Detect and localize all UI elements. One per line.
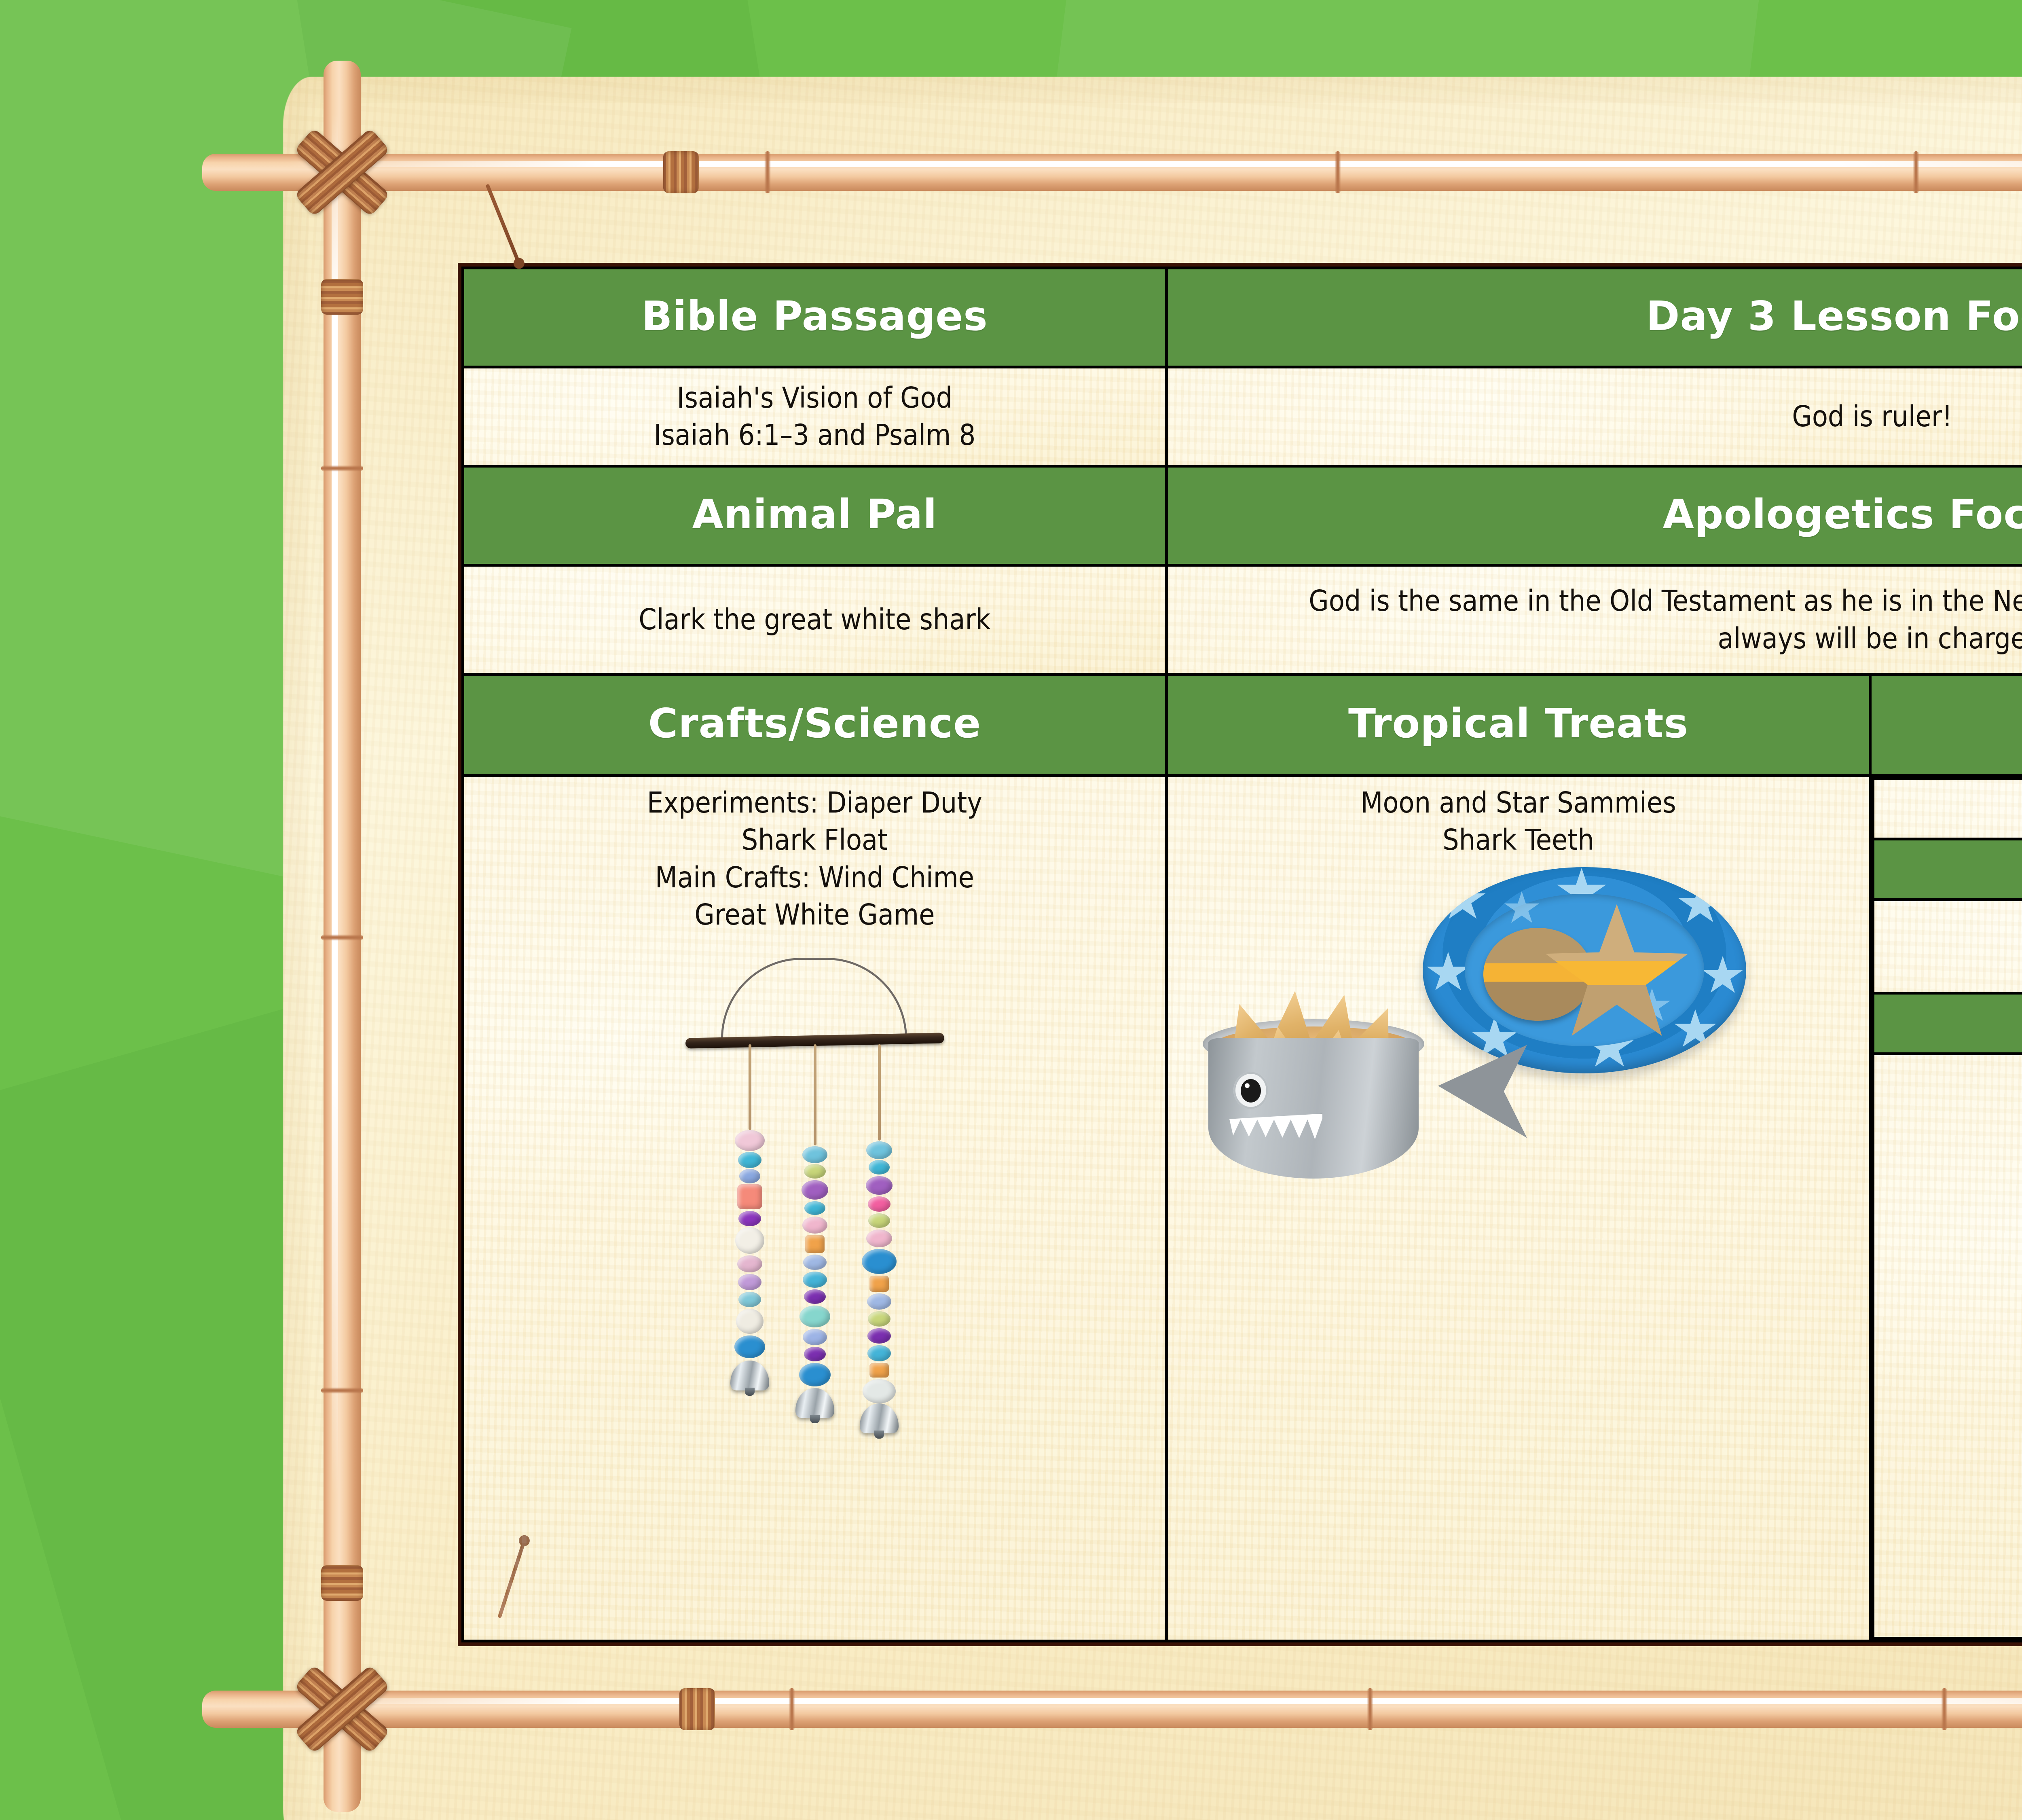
header-apologetics-focus: Apologetics Focus [1167,466,2022,565]
rope-band [321,1565,363,1601]
bamboo-pole-top [202,154,2022,191]
overview-table: Bible Passages Day 3 Lesson Focus Isaiah… [461,267,2022,1642]
tropical-treats-lines: Moon and Star Sammies Shark Teeth [1360,784,1676,859]
cell-treasured-verses: Isaiah 6:3 [1873,779,2022,839]
header-treasured-verses: Treasured Verses [1870,675,2022,776]
cell-tropical-treats: Moon and Star Sammies Shark Teeth [1167,776,1870,1641]
cell-bible-passages: Isaiah's Vision of God Isaiah 6:1–3 and … [463,367,1167,466]
chime-bell [795,1388,834,1418]
cell-cool-contests: Dress-Up Day [1873,1054,2022,1638]
crafts-science-lines: Experiments: Diaper Duty Shark Float Mai… [647,784,982,933]
cell-crafts-science: Experiments: Diaper Duty Shark Float Mai… [463,776,1167,1641]
chime-bell [860,1403,899,1433]
header-cool-contests: Cool Contests [1873,993,2022,1054]
tropical-treats-illustration [1180,859,1857,1632]
rope-band [321,279,363,315]
cell-day3-lesson-focus-text: God is ruler! [1792,400,1952,433]
table-row-section-headers: Crafts/Science Tropical Treats Treasured… [463,675,2022,776]
shark-tail-fin [1438,1045,1527,1138]
header-tropical-treats: Tropical Treats [1167,675,1870,776]
cell-animal-pal: Clark the great white shark [463,565,1167,675]
cell-apologetics-focus-body: God is the same in the Old Testament as … [1290,582,2022,657]
chime-bell [730,1361,769,1390]
cell-day3-lesson-focus: God is ruler! [1167,367,2022,466]
bamboo-pole-left [324,61,361,1812]
wind-chime-illustration [476,933,1153,1632]
shark-eye [1233,1072,1268,1109]
header-bible-passages: Bible Passages [463,268,1167,367]
crafts-science-stack: Experiments: Diaper Duty Shark Float Mai… [476,784,1153,1632]
star-plate [1423,867,1746,1073]
rope-band [679,1688,715,1730]
table-row-bible: Bible Passages Day 3 Lesson Focus [463,268,2022,367]
table-row-bible-body: Isaiah's Vision of God Isaiah 6:1–3 and … [463,367,2022,466]
header-animal-pal: Animal Pal [463,466,1167,565]
rope-band [663,151,699,193]
cell-apologetics-focus: God is the same in the Old Testament as … [1167,565,2022,675]
tropical-treats-stack: Moon and Star Sammies Shark Teeth [1180,784,1857,1632]
bamboo-pole-bottom [202,1691,2022,1728]
slide-stage: Bible Passages Day 3 Lesson Focus Isaiah… [0,0,2022,1820]
cell-animal-pal-text: Clark the great white shark [639,603,990,636]
cell-bible-passages-text: Isaiah's Vision of God Isaiah 6:1–3 and … [654,381,976,452]
table-row-activities: Experiments: Diaper Duty Shark Float Mai… [463,776,2022,1641]
shark-bowl [1208,993,1467,1179]
header-crafts-science: Crafts/Science [463,675,1167,776]
table-row-animal-body: Clark the great white shark God is the s… [463,565,2022,675]
curriculum-table: Bible Passages Day 3 Lesson Focus Isaiah… [458,263,2022,1646]
header-day3-lesson-focus: Day 3 Lesson Focus [1167,268,2022,367]
right-column-cell: Isaiah 6:3 Games Glory Corners Trop [1870,776,2022,1641]
chime-hanging-wire [721,958,907,1039]
table-row-animal: Animal Pal Apologetics Focus [463,466,2022,565]
header-games: Games [1873,839,2022,900]
cell-games: Glory Corners Tropical Relays [1873,900,2022,993]
